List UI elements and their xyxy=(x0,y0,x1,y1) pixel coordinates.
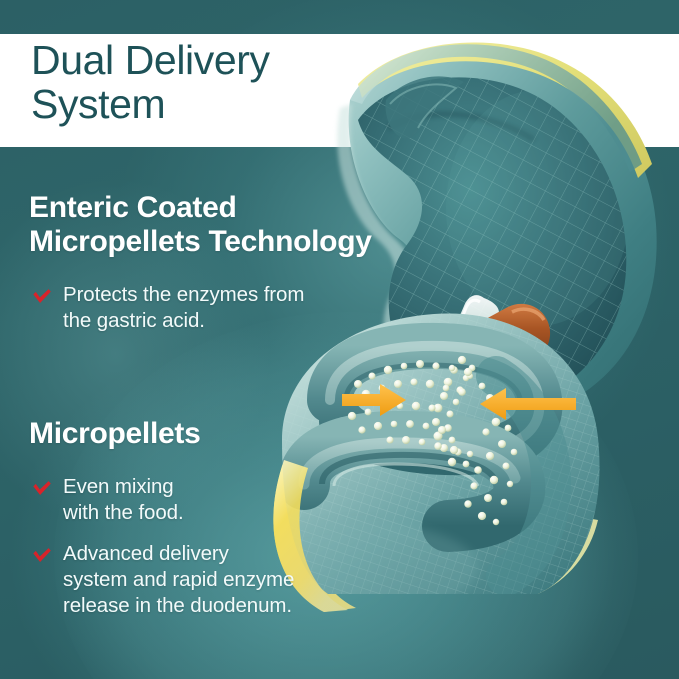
check-icon xyxy=(31,286,53,308)
list-item-text: Protects the enzymes from the gastric ac… xyxy=(63,282,304,334)
list-item: Even mixing with the food. xyxy=(31,474,391,526)
section-heading-micropellets: Micropellets xyxy=(29,417,359,451)
infographic-poster: Dual Delivery System Enteric Coated Micr… xyxy=(0,0,679,679)
list-item-text: Even mixing with the food. xyxy=(63,474,184,526)
list-item: Advanced delivery system and rapid enzym… xyxy=(31,541,411,620)
list-item: Protects the enzymes from the gastric ac… xyxy=(31,282,411,334)
check-icon xyxy=(31,478,53,500)
list-item-text: Advanced delivery system and rapid enzym… xyxy=(63,541,294,620)
page-title: Dual Delivery System xyxy=(31,38,451,127)
section-heading-enteric-coated: Enteric Coated Micropellets Technology xyxy=(29,191,429,259)
check-icon xyxy=(31,545,53,567)
